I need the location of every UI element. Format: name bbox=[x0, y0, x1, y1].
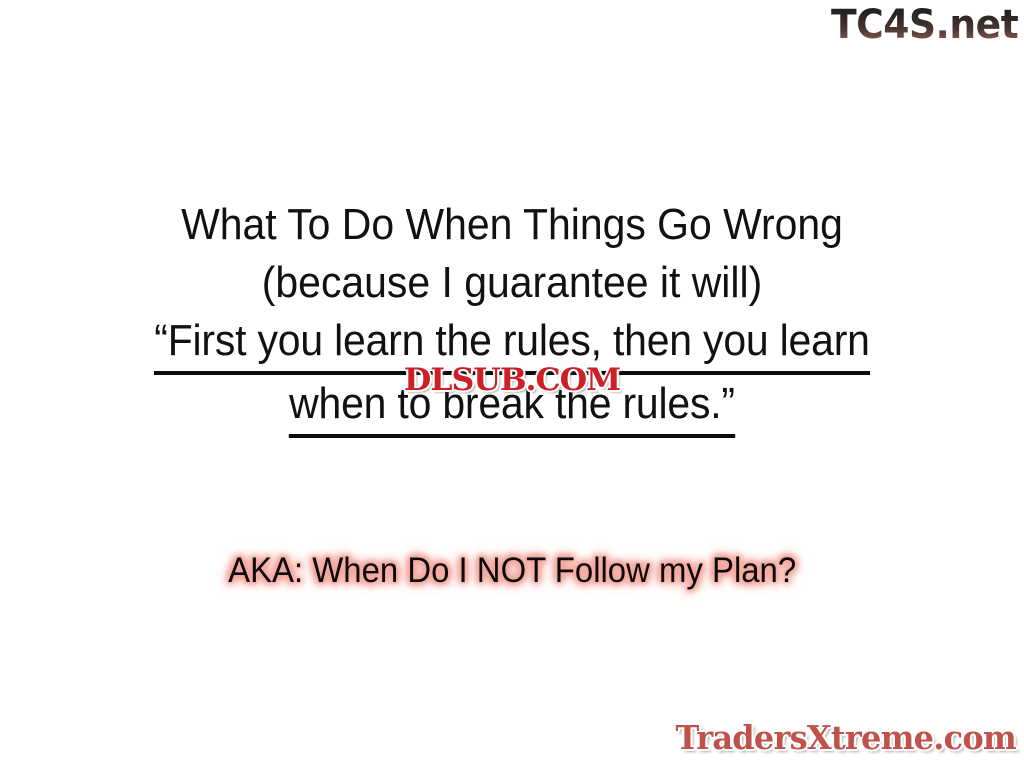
title-block: What To Do When Things Go Wrong (because… bbox=[0, 196, 1024, 438]
aka-line-text: AKA: When Do I NOT Follow my Plan? bbox=[228, 548, 796, 594]
aka-line: AKA: When Do I NOT Follow my Plan? bbox=[0, 548, 1024, 594]
title-line-2: (because I guarantee it will) bbox=[36, 254, 988, 312]
title-line-2-text: (because I guarantee it will) bbox=[262, 254, 762, 312]
brand-logo-top: TC4S.net bbox=[831, 2, 1018, 48]
title-line-1-text: What To Do When Things Go Wrong bbox=[181, 196, 843, 254]
watermark-dlsub: DLSUB.COM bbox=[404, 363, 620, 397]
slide-canvas: TC4S.net What To Do When Things Go Wrong… bbox=[0, 0, 1024, 768]
brand-logo-bottom: TradersXtreme.com bbox=[676, 718, 1016, 758]
title-line-1: What To Do When Things Go Wrong bbox=[36, 196, 988, 254]
